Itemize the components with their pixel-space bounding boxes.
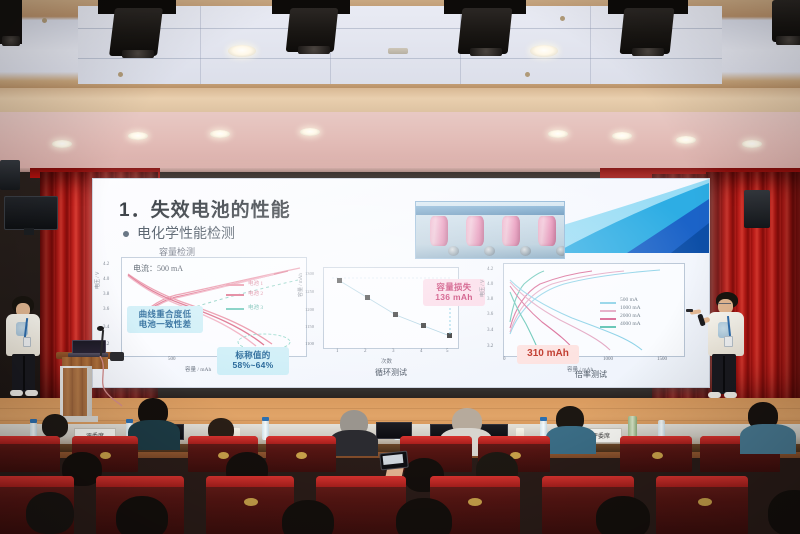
chair-plate xyxy=(698,498,712,506)
chair-cushion xyxy=(96,476,184,487)
trouser-seam xyxy=(23,356,25,390)
trouser-seam xyxy=(723,356,725,392)
ceiling-seam xyxy=(590,6,591,84)
sprinkler xyxy=(525,72,530,77)
callout-line-1: 标称值的 xyxy=(217,350,289,360)
legend-label: 电池 2 xyxy=(248,289,263,297)
legend-swatch xyxy=(600,310,616,312)
cable xyxy=(96,356,132,408)
battery-test-photo xyxy=(415,201,565,259)
downlight xyxy=(228,45,256,57)
audience-head xyxy=(282,500,334,534)
downlight xyxy=(128,132,148,140)
wall-monitor xyxy=(4,196,58,230)
y-tick: 3.6 xyxy=(487,312,493,317)
legend-label: 1000 mA xyxy=(620,305,641,311)
y-axis-label: 容量 / mAh xyxy=(297,273,304,297)
y-tick: 1250 xyxy=(305,289,314,294)
id-badge xyxy=(724,336,733,347)
x-tick: 3 xyxy=(392,349,395,354)
legend-swatch xyxy=(226,294,244,296)
chair-cushion xyxy=(0,476,74,487)
chair-plate xyxy=(652,452,663,459)
chair-cushion xyxy=(400,436,472,444)
x-tick: 0 xyxy=(503,357,506,362)
legend-swatch xyxy=(600,302,616,304)
downlight xyxy=(548,130,568,138)
legend-swatch xyxy=(226,284,244,286)
chair-cushion xyxy=(478,436,550,444)
projection-screen: 1．失效电池的性能 电化学性能检测 容量检测 xyxy=(92,178,710,388)
y-axis-label: 电压 / V xyxy=(94,271,101,289)
bottle-cap xyxy=(262,417,269,421)
shoe xyxy=(708,392,721,398)
audience-head xyxy=(26,492,74,534)
chair-plate xyxy=(244,498,258,506)
ceiling-vent xyxy=(388,48,408,54)
stage-light-lens xyxy=(122,50,154,58)
chair-plate xyxy=(468,498,482,506)
podium-wood-panel xyxy=(63,368,87,416)
y-tick: 4.0 xyxy=(103,277,109,282)
chair-plate xyxy=(100,452,111,459)
stage-light-lens xyxy=(470,48,502,56)
downlight xyxy=(612,132,632,140)
y-tick: 4.2 xyxy=(103,262,109,267)
chair-cushion xyxy=(542,476,634,487)
x-axis-label: 次数 xyxy=(381,357,392,365)
wall-monitor-mount xyxy=(24,228,34,235)
chair-plate xyxy=(218,452,229,459)
x-tick: 1500 xyxy=(657,357,667,362)
chair-cushion xyxy=(620,436,692,444)
ceiling-seam xyxy=(200,6,201,84)
x-tick: 500 xyxy=(168,357,176,362)
bullet-dot-icon xyxy=(123,231,129,237)
wall-speaker xyxy=(744,190,770,228)
y-tick: 4.2 xyxy=(487,267,493,272)
chair-cushion xyxy=(72,436,138,444)
y-tick: 3.6 xyxy=(103,307,109,312)
right-chart-plot: 500 mA 1000 mA 2000 mA 4000 mA xyxy=(503,263,685,357)
y-axis-label: 电压 / V xyxy=(479,279,486,297)
audience-head xyxy=(768,490,800,534)
slide-bullet-text: 电化学性能检测 xyxy=(137,223,235,243)
audience-head xyxy=(116,496,168,534)
wall-speaker xyxy=(0,160,20,190)
glasses-icon xyxy=(718,303,731,307)
callout-line-1: 曲线重合度低 xyxy=(127,309,203,319)
auditorium-scene: 1．失效电池的性能 电化学性能检测 容量检测 xyxy=(0,0,800,534)
callout-line-2: 136 mAh xyxy=(423,292,485,302)
audience-head xyxy=(42,414,68,438)
legend-label: 电池 1 xyxy=(248,279,263,287)
stage-light-lens xyxy=(298,46,330,54)
x-axis-label: 容量 / mAh xyxy=(185,365,211,373)
downlight xyxy=(300,128,320,136)
chair-cushion xyxy=(430,476,520,487)
x-tick: 4 xyxy=(420,349,423,354)
callout-capacity-loss: 容量损失 136 mAh xyxy=(423,279,485,306)
wall-cornice xyxy=(0,88,800,114)
av-device xyxy=(110,352,124,361)
downlight xyxy=(210,130,230,138)
callout-curve-consistency: 曲线重合度低 电池一致性差 xyxy=(127,306,203,333)
slide-title: 1．失效电池的性能 xyxy=(119,195,291,222)
audience-head xyxy=(396,498,452,534)
chair-cushion xyxy=(206,476,294,487)
bottle-cap xyxy=(126,419,133,423)
y-tick: 3.4 xyxy=(487,328,493,333)
x-tick: 1 xyxy=(336,349,339,354)
sprinkler xyxy=(560,16,565,21)
audience-body xyxy=(330,430,378,456)
stage-light-lens xyxy=(632,48,664,56)
stage-light-lens xyxy=(2,36,20,46)
x-tick: 1000 xyxy=(603,357,613,362)
callout-line-2: 电池一致性差 xyxy=(127,319,203,329)
callout-line-2: 58%~64% xyxy=(217,360,289,370)
downlight xyxy=(530,45,558,57)
y-tick: 3.8 xyxy=(487,297,493,302)
id-badge xyxy=(23,337,31,347)
microphone-head xyxy=(97,326,104,331)
bottle-cap xyxy=(540,417,547,421)
left-chart-title: 电流：500 mA xyxy=(133,263,183,274)
right-chart-caption: 倍率测试 xyxy=(551,369,631,380)
shoe xyxy=(10,390,23,396)
legend-label: 500 mA xyxy=(620,297,638,303)
callout-310-mah: 310 mAh xyxy=(517,345,579,364)
downlight xyxy=(676,136,696,144)
y-tick: 1100 xyxy=(305,341,314,346)
shoe xyxy=(724,392,737,398)
legend-swatch xyxy=(600,326,616,328)
x-tick: 5 xyxy=(446,349,449,354)
sprinkler xyxy=(118,72,123,77)
legend-label: 电池 3 xyxy=(248,303,263,311)
callout-line-1: 容量损失 xyxy=(423,282,485,292)
downlight xyxy=(742,140,762,148)
callout-nominal-percent: 标称值的 58%~64% xyxy=(217,347,289,375)
y-tick: 1200 xyxy=(305,307,314,312)
floor-plank xyxy=(0,408,800,409)
y-tick: 3.8 xyxy=(103,292,109,297)
chair-cushion xyxy=(266,436,336,444)
legend-label: 2000 mA xyxy=(620,313,641,319)
downlight xyxy=(52,140,72,148)
y-tick: 1300 xyxy=(305,271,314,276)
chair-cushion xyxy=(0,436,60,444)
legend-label: 4000 mA xyxy=(620,321,641,327)
y-tick: 1150 xyxy=(305,324,314,329)
x-tick: 2 xyxy=(364,349,367,354)
shoe xyxy=(25,390,38,396)
stage-light xyxy=(109,8,163,56)
y-tick: 4.0 xyxy=(487,282,493,287)
audience-head xyxy=(596,496,650,534)
audience-body xyxy=(546,426,596,454)
floor-plank xyxy=(0,420,800,421)
middle-chart-caption: 循环测试 xyxy=(351,367,431,378)
ceiling-seam xyxy=(78,58,722,59)
chair-cushion xyxy=(188,436,258,444)
y-tick: 3.2 xyxy=(487,344,493,349)
legend-swatch xyxy=(600,318,616,320)
laser-pointer[interactable] xyxy=(686,309,693,312)
sprinkler xyxy=(42,18,47,23)
legend-swatch xyxy=(226,308,244,310)
chair-plate xyxy=(296,452,307,459)
chair-cushion xyxy=(316,476,406,487)
bottle-cap xyxy=(30,419,37,423)
chair-cushion xyxy=(656,476,748,487)
stage-light-lens xyxy=(776,36,800,45)
audience-body xyxy=(740,424,796,454)
